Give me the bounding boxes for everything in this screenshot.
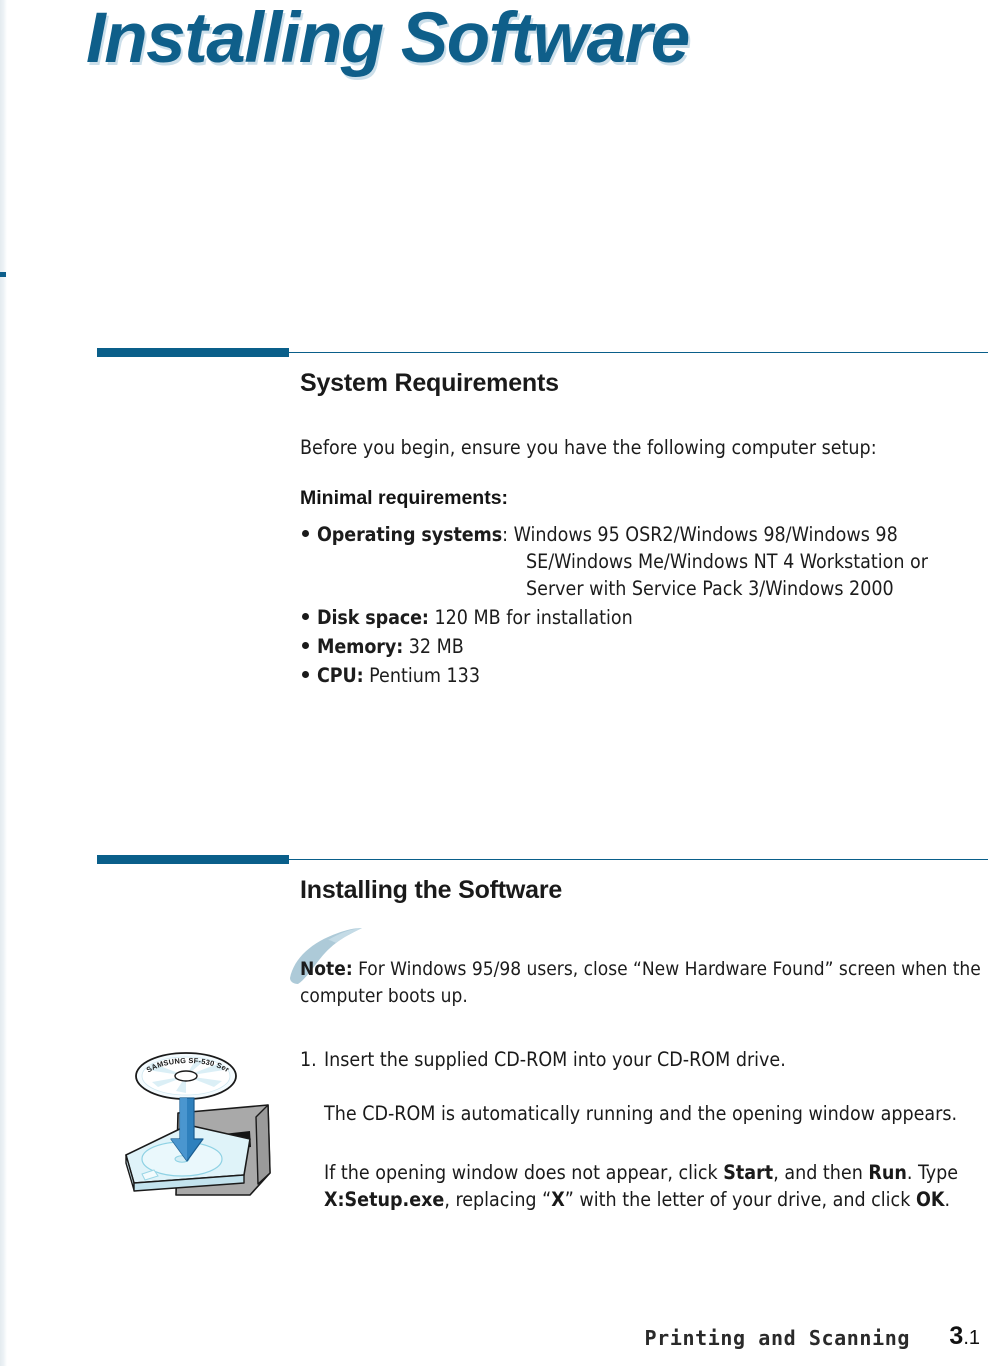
note-paragraph: Note: For Windows 95/98 users, close “Ne… — [300, 956, 988, 1010]
requirement-value: Pentium 133 — [369, 664, 480, 687]
divider-thick-bar — [97, 348, 289, 357]
text-segment-run: Run — [868, 1161, 907, 1184]
requirement-value: Windows 95 OSR2/Windows 98/Windows 98 — [514, 523, 898, 546]
text-segment: If the opening window does not appear, c… — [324, 1161, 723, 1184]
divider-thin-line — [289, 859, 988, 860]
requirement-value-continuation: SE/Windows Me/Windows NT 4 Workstation o… — [317, 548, 988, 575]
step-item: 1. Insert the supplied CD-ROM into your … — [300, 1046, 988, 1073]
text-segment: . — [944, 1188, 950, 1211]
page-number-major: 3 — [949, 1322, 963, 1350]
section-system-requirements: System Requirements Before you begin, en… — [300, 368, 988, 691]
system-requirements-intro: Before you begin, ensure you have the fo… — [300, 434, 988, 461]
list-item: Memory: 32 MB — [300, 633, 988, 660]
text-segment-start: Start — [723, 1161, 773, 1184]
bullet-icon — [302, 671, 309, 678]
note-label: Note: — [300, 958, 353, 980]
page-footer: Printing and Scanning 3.1 — [0, 1322, 988, 1366]
text-segment-setup-exe: X:Setup.exe — [324, 1188, 444, 1211]
text-segment: . Type — [907, 1161, 958, 1184]
requirement-separator: : — [502, 523, 508, 546]
bullet-icon — [302, 530, 309, 537]
section-installing-the-software: Installing the Software Note: For Window… — [300, 875, 988, 1213]
page-title: Installing Software — [86, 0, 689, 82]
minimal-requirements-label: Minimal requirements: — [300, 485, 988, 511]
requirement-term: Memory: — [317, 635, 403, 658]
text-segment-ok: OK — [916, 1188, 945, 1211]
requirement-value-continuation: Server with Service Pack 3/Windows 2000 — [317, 575, 988, 602]
text-segment: , and then — [773, 1161, 868, 1184]
list-item: Disk space: 120 MB for installation — [300, 604, 988, 631]
step-sub-paragraph-rich: If the opening window does not appear, c… — [300, 1159, 988, 1213]
requirements-list: Operating systems: Windows 95 OSR2/Windo… — [300, 521, 988, 689]
requirement-value: 120 MB for installation — [434, 606, 632, 629]
text-segment: , replacing “ — [444, 1188, 551, 1211]
section-heading-installing-the-software: Installing the Software — [300, 875, 988, 905]
divider-thick-bar — [97, 855, 289, 864]
note-text: For Windows 95/98 users, close “New Hard… — [300, 958, 981, 1007]
page-edge-tick-mark — [0, 272, 6, 277]
page-number-minor: .1 — [963, 1327, 980, 1349]
list-item: Operating systems: Windows 95 OSR2/Windo… — [300, 521, 988, 602]
requirement-value: 32 MB — [409, 635, 464, 658]
text-segment: ” with the letter of your drive, and cli… — [565, 1188, 916, 1211]
step-sub-paragraph: The CD-ROM is automatically running and … — [300, 1100, 988, 1127]
requirement-term: CPU: — [317, 664, 364, 687]
footer-section-label: Printing and Scanning — [645, 1326, 910, 1350]
cd-rom-insertion-diagram: SAMSUNG SF-530 Series — [118, 1043, 298, 1228]
text-segment-x: X — [551, 1188, 565, 1211]
list-item: CPU: Pentium 133 — [300, 662, 988, 689]
step-number: 1. — [300, 1046, 317, 1073]
step-text: Insert the supplied CD-ROM into your CD-… — [300, 1046, 988, 1073]
divider-thin-line — [289, 352, 988, 353]
bullet-icon — [302, 613, 309, 620]
section-divider-system-requirements — [97, 348, 988, 357]
requirement-term: Disk space: — [317, 606, 429, 629]
requirement-term: Operating systems — [317, 523, 502, 546]
section-divider-installing-the-software — [97, 855, 988, 864]
section-heading-system-requirements: System Requirements — [300, 368, 988, 398]
page-edge-strip — [0, 0, 7, 1366]
page-number: 3.1 — [949, 1322, 980, 1351]
note-block: Note: For Windows 95/98 users, close “Ne… — [300, 956, 988, 1010]
bullet-icon — [302, 642, 309, 649]
